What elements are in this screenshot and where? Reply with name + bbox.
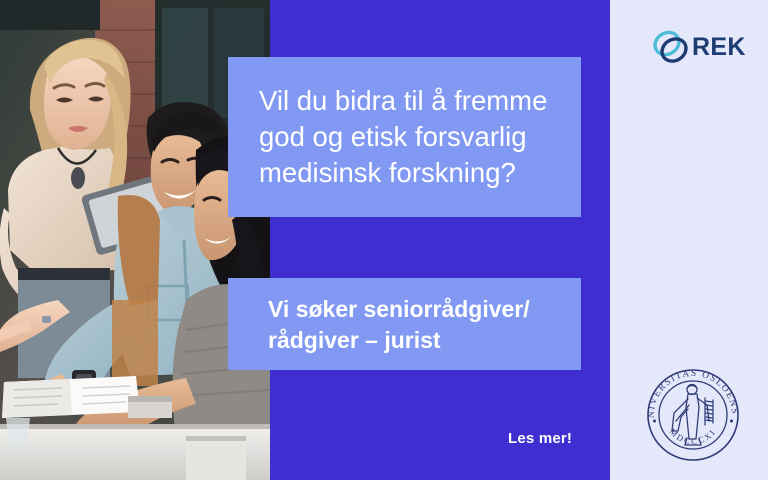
job-advert-banner: Vil du bidra til å fremme god og etisk f… — [0, 0, 768, 480]
headline-text: Vil du bidra til å fremme god og etisk f… — [259, 83, 581, 191]
job-title-text: Vi søker seniorrådgiver/ rådgiver – juri… — [268, 294, 581, 356]
seal-outer-text: UNIVERSITAS OSLOENSIS — [643, 365, 739, 418]
job-title-box: Vi søker seniorrådgiver/ rådgiver – juri… — [228, 278, 581, 370]
rek-logo[interactable]: REK — [650, 26, 740, 68]
headline-box: Vil du bidra til å fremme god og etisk f… — [228, 57, 581, 217]
read-more-link[interactable]: Les mer! — [508, 430, 572, 447]
rek-wordmark: REK — [692, 33, 746, 62]
rek-interlocking-loops-icon — [650, 27, 694, 67]
uio-seal: UNIVERSITAS OSLOENSIS MDCCCXI — [643, 365, 743, 465]
